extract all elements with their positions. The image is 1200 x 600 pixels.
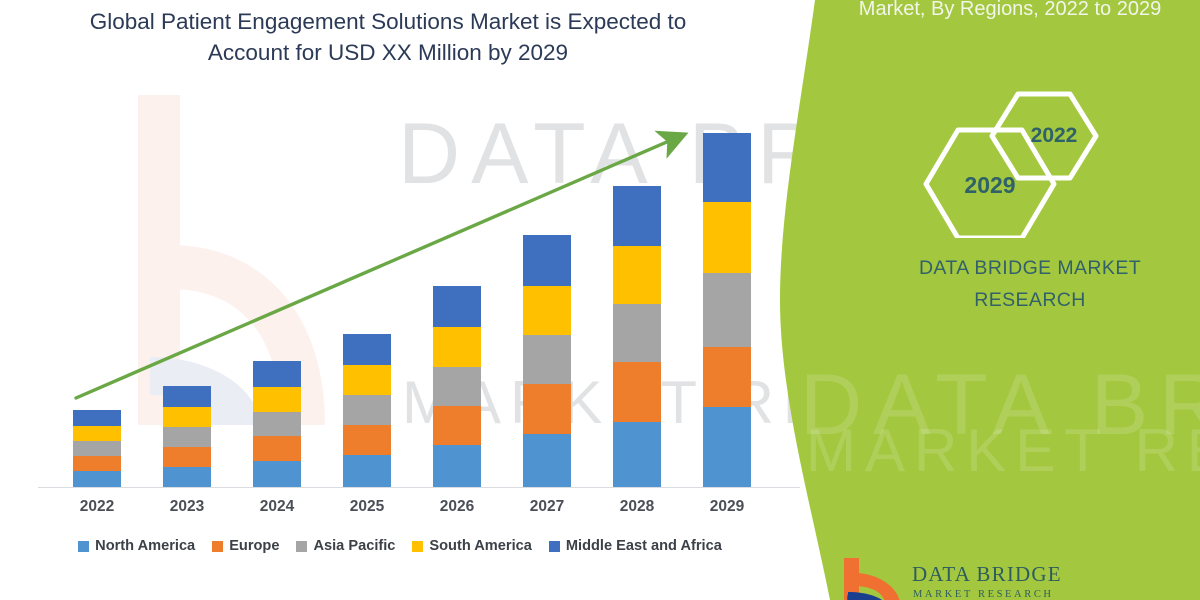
hexagon-outlines-icon bbox=[900, 88, 1130, 238]
bar-segment[interactable] bbox=[343, 425, 391, 455]
bar-segment[interactable] bbox=[253, 436, 301, 461]
footer-logo: DATA BRIDGE MARKET RESEARCH bbox=[838, 556, 1198, 600]
bar-segment[interactable] bbox=[703, 347, 751, 407]
bar-2029[interactable] bbox=[703, 133, 751, 487]
page-title: Global Patient Engagement Solutions Mark… bbox=[78, 6, 698, 68]
bar-2026[interactable] bbox=[433, 286, 481, 487]
legend-item-north-america[interactable]: North America bbox=[78, 538, 195, 554]
legend-item-middle-east-and-africa[interactable]: Middle East and Africa bbox=[549, 538, 722, 554]
bar-segment[interactable] bbox=[163, 407, 211, 427]
bar-segment[interactable] bbox=[253, 412, 301, 436]
bar-segment[interactable] bbox=[613, 246, 661, 304]
bar-segment[interactable] bbox=[523, 434, 571, 487]
brand-name: DATA BRIDGE MARKET RESEARCH bbox=[880, 252, 1180, 316]
bar-segment[interactable] bbox=[163, 427, 211, 447]
x-axis-label-2026: 2026 bbox=[422, 498, 492, 516]
x-axis-label-2025: 2025 bbox=[332, 498, 402, 516]
hexagon-badge-label-2029: 2029 bbox=[948, 172, 1032, 199]
legend-label: South America bbox=[429, 538, 531, 554]
x-axis-line bbox=[38, 487, 800, 488]
bar-segment[interactable] bbox=[163, 447, 211, 467]
legend-label: Middle East and Africa bbox=[566, 538, 722, 554]
x-axis-label-2028: 2028 bbox=[602, 498, 672, 516]
bar-segment[interactable] bbox=[703, 273, 751, 347]
bar-segment[interactable] bbox=[73, 410, 121, 426]
panel-heading: Market, By Regions, 2022 to 2029 bbox=[830, 0, 1190, 22]
bar-segment[interactable] bbox=[523, 335, 571, 384]
bar-segment[interactable] bbox=[253, 461, 301, 487]
x-axis-labels: 20222023202420252026202720282029 bbox=[0, 498, 800, 522]
bar-segment[interactable] bbox=[523, 384, 571, 434]
legend-swatch-icon bbox=[412, 541, 423, 552]
bar-segment[interactable] bbox=[523, 286, 571, 335]
bar-segment[interactable] bbox=[703, 133, 751, 202]
bar-segment[interactable] bbox=[253, 361, 301, 387]
bar-group bbox=[0, 110, 800, 487]
x-axis-label-2029: 2029 bbox=[692, 498, 762, 516]
bar-2023[interactable] bbox=[163, 386, 211, 487]
footer-logo-subtitle: MARKET RESEARCH bbox=[913, 589, 1054, 600]
legend-item-south-america[interactable]: South America bbox=[412, 538, 531, 554]
bar-segment[interactable] bbox=[613, 362, 661, 422]
chart-plot-area bbox=[0, 110, 800, 500]
infographic-canvas: DATA BRIDGE MARKET RESEARCH DATA BRIDGE … bbox=[0, 0, 1200, 600]
bar-segment[interactable] bbox=[523, 235, 571, 286]
bar-segment[interactable] bbox=[343, 395, 391, 425]
legend-label: Europe bbox=[229, 538, 279, 554]
bar-segment[interactable] bbox=[433, 445, 481, 487]
hexagon-badge-label-2022: 2022 bbox=[1012, 124, 1096, 148]
bar-segment[interactable] bbox=[73, 441, 121, 456]
bar-segment[interactable] bbox=[613, 186, 661, 246]
x-axis-label-2022: 2022 bbox=[62, 498, 132, 516]
bar-segment[interactable] bbox=[613, 422, 661, 487]
x-axis-label-2024: 2024 bbox=[242, 498, 312, 516]
legend-swatch-icon bbox=[78, 541, 89, 552]
hexagon-badge-group: 2022 2029 bbox=[900, 88, 1130, 238]
bar-2025[interactable] bbox=[343, 334, 391, 487]
legend-swatch-icon bbox=[296, 541, 307, 552]
bar-segment[interactable] bbox=[73, 426, 121, 441]
bar-segment[interactable] bbox=[73, 456, 121, 471]
bar-segment[interactable] bbox=[343, 455, 391, 487]
bar-2024[interactable] bbox=[253, 361, 301, 487]
legend-swatch-icon bbox=[549, 541, 560, 552]
x-axis-label-2023: 2023 bbox=[152, 498, 222, 516]
bar-segment[interactable] bbox=[433, 286, 481, 327]
bar-segment[interactable] bbox=[703, 407, 751, 487]
chart-legend: North AmericaEuropeAsia PacificSouth Ame… bbox=[0, 538, 800, 554]
legend-item-europe[interactable]: Europe bbox=[212, 538, 279, 554]
bar-2027[interactable] bbox=[523, 235, 571, 487]
bar-segment[interactable] bbox=[253, 387, 301, 412]
bar-2022[interactable] bbox=[73, 410, 121, 487]
bar-segment[interactable] bbox=[433, 406, 481, 445]
bar-segment[interactable] bbox=[343, 334, 391, 365]
bar-segment[interactable] bbox=[163, 467, 211, 487]
bar-segment[interactable] bbox=[433, 367, 481, 406]
bar-segment[interactable] bbox=[163, 386, 211, 407]
bar-segment[interactable] bbox=[343, 365, 391, 395]
bar-segment[interactable] bbox=[703, 202, 751, 273]
x-axis-label-2027: 2027 bbox=[512, 498, 582, 516]
brand-line-1: DATA BRIDGE MARKET bbox=[880, 252, 1180, 284]
bar-segment[interactable] bbox=[613, 304, 661, 362]
bar-2028[interactable] bbox=[613, 186, 661, 487]
bar-segment[interactable] bbox=[73, 471, 121, 487]
legend-label: Asia Pacific bbox=[313, 538, 395, 554]
bridge-logo-icon bbox=[838, 556, 904, 600]
bar-segment[interactable] bbox=[433, 327, 481, 367]
legend-swatch-icon bbox=[212, 541, 223, 552]
legend-label: North America bbox=[95, 538, 195, 554]
brand-line-2: RESEARCH bbox=[880, 284, 1180, 316]
footer-logo-name: DATA BRIDGE bbox=[912, 562, 1062, 587]
legend-item-asia-pacific[interactable]: Asia Pacific bbox=[296, 538, 395, 554]
